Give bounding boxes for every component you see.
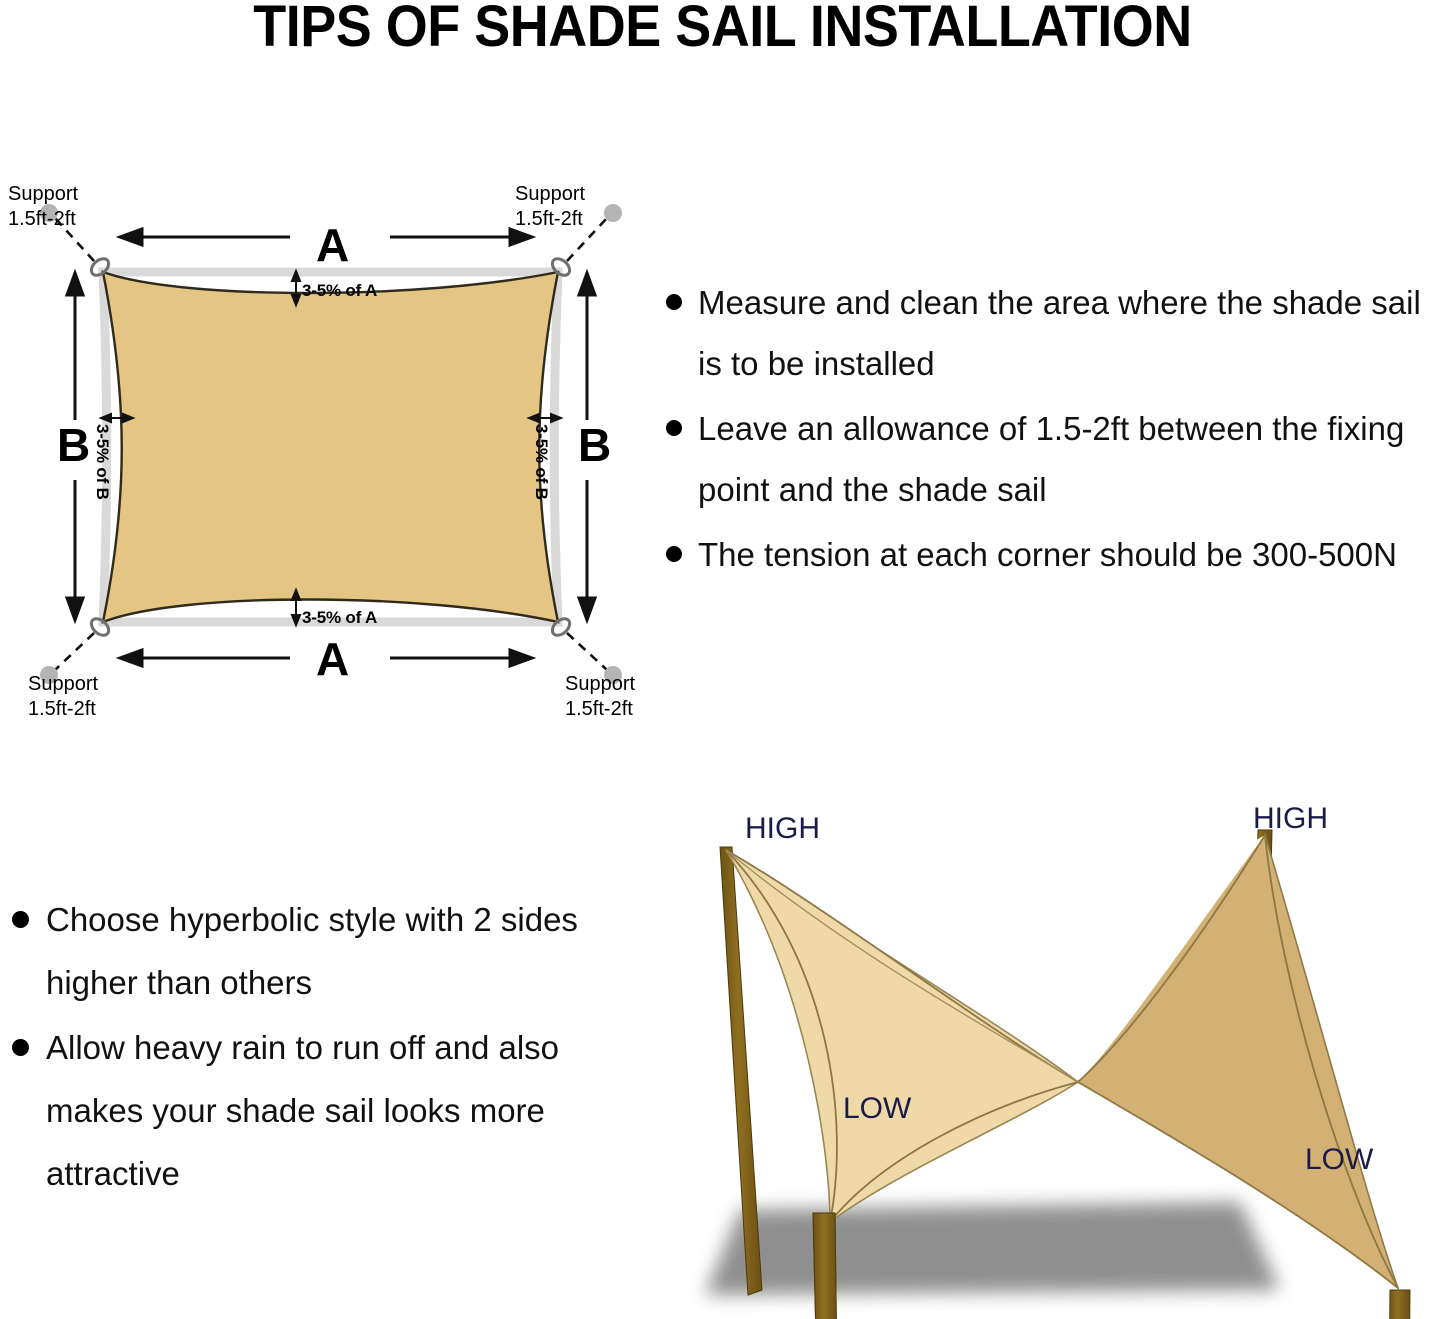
curvature-label-left: 3-5% of B — [92, 424, 112, 500]
ground-shadow — [705, 1202, 1280, 1295]
support-label-bottom-right: Support 1.5ft-2ft — [565, 672, 705, 722]
post-front-right — [1388, 1290, 1410, 1319]
dimension-letter-b-left: B — [57, 422, 90, 468]
label-low-right: LOW — [1305, 1143, 1373, 1177]
list-item: Measure and clean the area where the sha… — [652, 272, 1445, 394]
curvature-label-bottom: 3-5% of A — [302, 608, 377, 628]
curvature-label-right: 3-5% of B — [531, 424, 551, 500]
support-label-top-right: Support 1.5ft-2ft — [515, 182, 655, 232]
label-high-left: HIGH — [745, 812, 820, 846]
label-high-right: HIGH — [1253, 802, 1328, 836]
list-item: Choose hyperbolic style with 2 sides hig… — [2, 888, 632, 1014]
curvature-tick-left — [101, 414, 133, 422]
list-item: Allow heavy rain to run off and also mak… — [2, 1016, 632, 1205]
installation-tips-lower-list: Choose hyperbolic style with 2 sides hig… — [2, 888, 632, 1207]
sail-shape — [103, 272, 558, 622]
curvature-label-top: 3-5% of A — [302, 281, 377, 301]
label-low-left: LOW — [843, 1092, 911, 1126]
support-label-top-left: Support 1.5ft-2ft — [8, 182, 148, 232]
post-front-left-overlay — [813, 1213, 837, 1319]
infographic-page: TIPS OF SHADE SAIL INSTALLATION — [0, 0, 1445, 1319]
list-item: Leave an allowance of 1.5-2ft between th… — [652, 398, 1445, 520]
curvature-tick-bottom — [292, 590, 300, 625]
curvature-tick-right — [529, 414, 561, 422]
dimension-letter-a-top: A — [316, 222, 349, 268]
dimension-letter-b-right: B — [578, 422, 611, 468]
curvature-tick-top — [292, 271, 300, 305]
hyperbolic-sail-illustration — [680, 790, 1445, 1319]
support-label-bottom-left: Support 1.5ft-2ft — [28, 672, 168, 722]
page-title: TIPS OF SHADE SAIL INSTALLATION — [51, 0, 1395, 60]
dimension-letter-a-bottom: A — [316, 636, 349, 682]
installation-tips-upper-list: Measure and clean the area where the sha… — [652, 272, 1445, 589]
list-item: The tension at each corner should be 300… — [652, 524, 1445, 585]
